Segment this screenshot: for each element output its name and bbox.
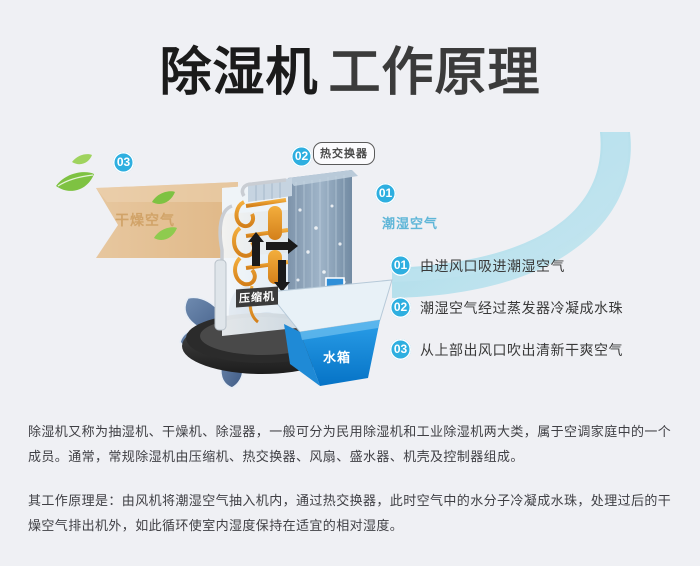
legend-badge-02: 02: [390, 297, 411, 318]
drain-pipe: [215, 260, 226, 330]
description-block: 除湿机又称为抽湿机、干燥机、除湿器，一般可分为民用除湿机和工业除湿机两大类，属于…: [28, 419, 678, 538]
label-heat-exchanger: 热交换器: [313, 142, 375, 165]
diagram-badge-03: 03: [113, 152, 134, 173]
legend-badge-01: 01: [390, 255, 411, 276]
legend-item-03: 03 从上部出风口吹出清新干爽空气: [390, 339, 690, 360]
legend-list: 01 由进风口吸进潮湿空气 02 潮湿空气经过蒸发器冷凝成水珠 03 从上部出风…: [390, 255, 690, 381]
legend-item-02: 02 潮湿空气经过蒸发器冷凝成水珠: [390, 297, 690, 318]
page-title-secondary: 工作原理: [329, 44, 541, 102]
label-dry-air: 干燥空气: [115, 210, 175, 230]
legend-text-02: 潮湿空气经过蒸发器冷凝成水珠: [420, 298, 623, 318]
label-compressor: 压缩机: [236, 287, 278, 308]
label-humid-air: 潮湿空气: [382, 213, 438, 232]
legend-text-03: 从上部出风口吹出清新干爽空气: [420, 340, 623, 360]
page-title-primary: 除湿机: [159, 44, 318, 102]
legend-badge-03: 03: [390, 339, 411, 360]
legend-item-01: 01 由进风口吸进潮湿空气: [390, 255, 690, 276]
diagram-badge-02: 02: [291, 146, 312, 167]
description-paragraph-2: 其工作原理是：由风机将潮湿空气抽入机内，通过热交换器，此时空气中的水分子冷凝成水…: [28, 488, 678, 538]
description-paragraph-1: 除湿机又称为抽湿机、干燥机、除湿器，一般可分为民用除湿机和工业除湿机两大类，属于…: [28, 419, 678, 469]
page-title: 除湿机工作原理: [0, 30, 700, 105]
legend-text-01: 由进风口吸进潮湿空气: [420, 256, 565, 276]
dehumidifier-infographic-page: 除湿机工作原理: [0, 0, 700, 566]
label-water-tank: 水箱: [323, 347, 351, 366]
diagram-badge-01: 01: [375, 183, 396, 204]
